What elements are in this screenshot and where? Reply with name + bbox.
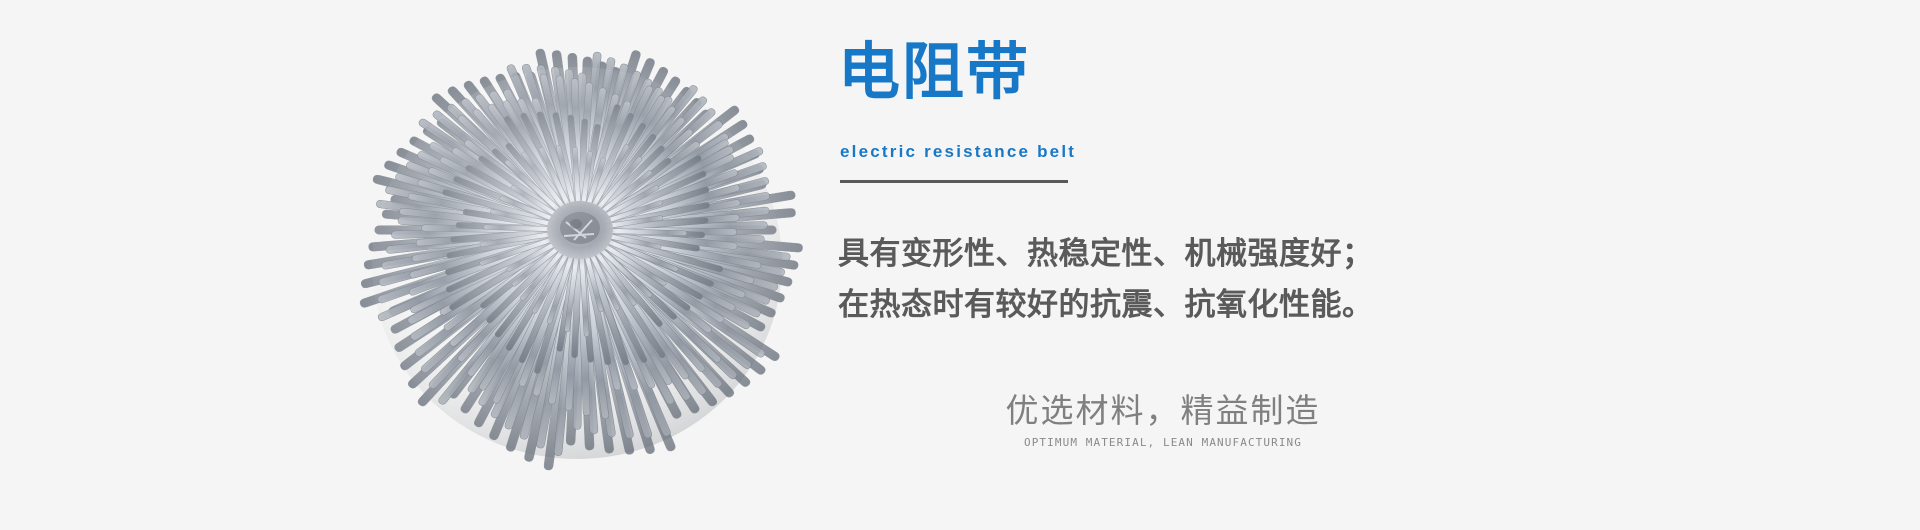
description-line-2: 在热态时有较好的抗震、抗氧化性能。 [838, 279, 1538, 330]
product-image-stage [355, 48, 805, 488]
tagline-cn: 优选材料，精益制造 [953, 390, 1373, 432]
page-subtitle: electric resistance belt [840, 142, 1076, 162]
tagline-block: 优选材料，精益制造 OPTIMUM MATERIAL, LEAN MANUFAC… [953, 390, 1373, 449]
banner-content: 电阻带 electric resistance belt 具有变形性、热稳定性、… [838, 0, 1738, 530]
product-image [355, 48, 805, 488]
title-divider [840, 180, 1068, 183]
tagline-en: OPTIMUM MATERIAL, LEAN MANUFACTURING [953, 436, 1373, 449]
page-title: 电阻带 [838, 42, 1030, 104]
product-description: 具有变形性、热稳定性、机械强度好； 在热态时有较好的抗震、抗氧化性能。 [838, 228, 1538, 330]
description-line-1: 具有变形性、热稳定性、机械强度好； [838, 228, 1538, 279]
resistance-belt-illustration [355, 48, 805, 488]
product-banner: 电阻带 electric resistance belt 具有变形性、热稳定性、… [0, 0, 1920, 530]
